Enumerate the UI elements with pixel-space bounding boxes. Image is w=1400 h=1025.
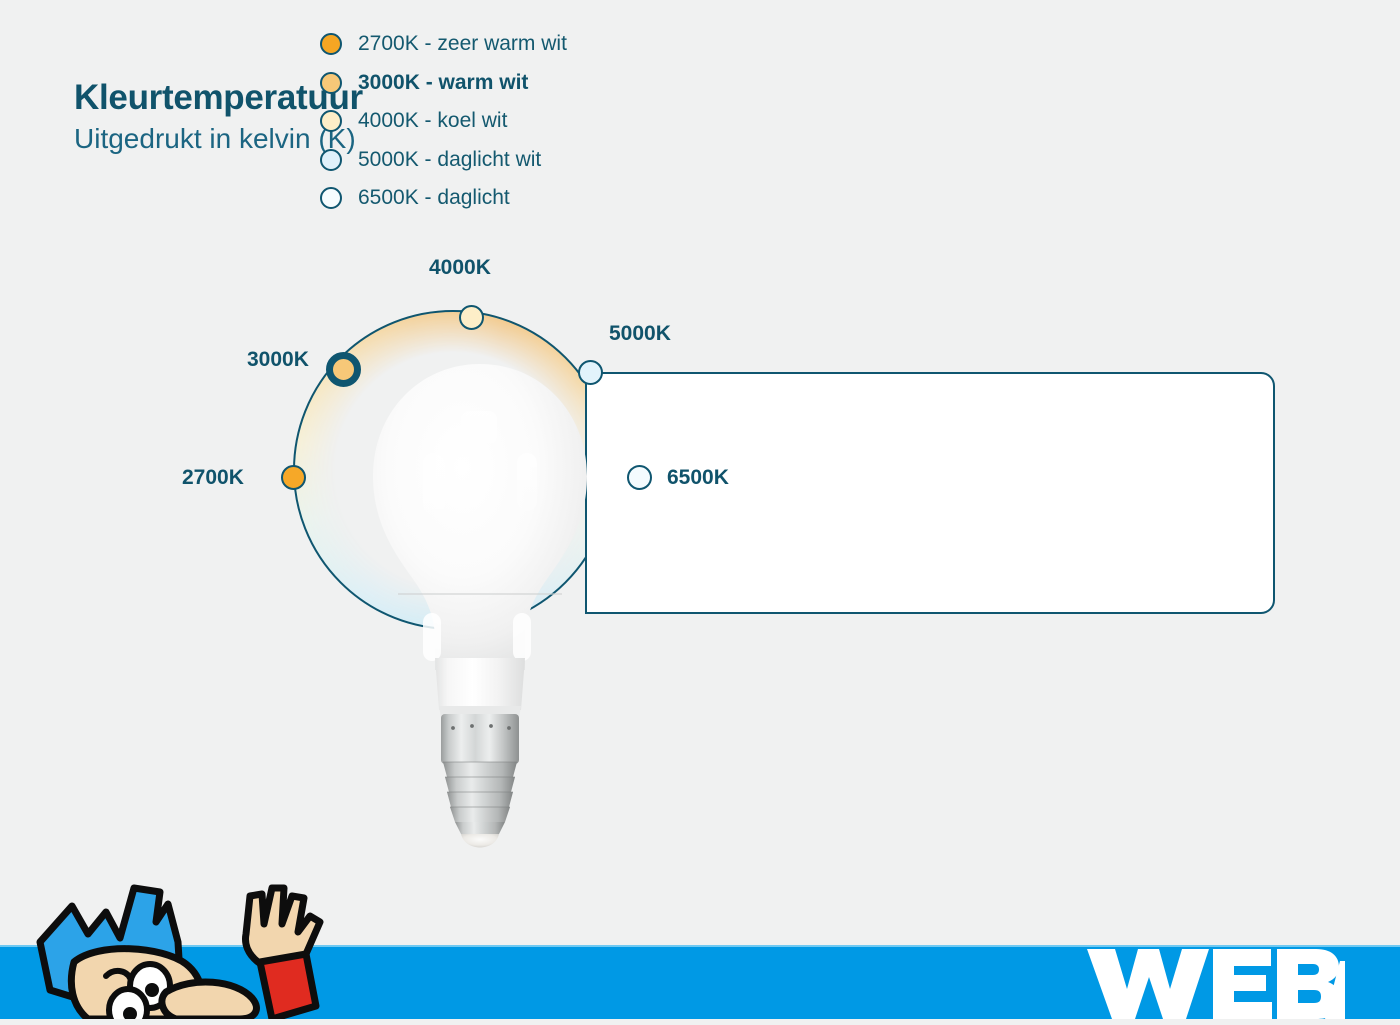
arc-label-5000k: 5000K (609, 322, 671, 346)
node-marker-2700k[interactable] (281, 465, 306, 490)
legend-item-2700k[interactable]: 2700K - zeer warm wit (320, 25, 567, 64)
legend-label-5000k: 5000K - daglicht wit (358, 148, 541, 172)
arc-label-3000k: 3000K (247, 348, 309, 372)
legend-label-4000k: 4000K - koel wit (358, 109, 507, 133)
mascot-character-icon (10, 880, 340, 1019)
node-marker-4000k[interactable] (459, 305, 484, 330)
legend-label-6500k: 6500K - daglicht (358, 186, 510, 210)
node-marker-3000k[interactable] (326, 352, 361, 387)
weba-logo-icon (1085, 939, 1345, 1025)
legend-dot-6500k (320, 187, 342, 209)
node-marker-6500k[interactable] (627, 465, 652, 490)
legend-dot-5000k (320, 149, 342, 171)
color-temperature-diagram: 2700K 3000K 4000K 5000K 6500K (0, 0, 1400, 945)
legend-item-3000k[interactable]: 3000K - warm wit (320, 64, 567, 103)
legend-label-2700k: 2700K - zeer warm wit (358, 32, 567, 56)
node-marker-5000k[interactable] (578, 360, 603, 385)
legend-item-5000k[interactable]: 5000K - daglicht wit (320, 141, 567, 180)
arc-label-4000k: 4000K (429, 256, 491, 280)
legend-panel (585, 372, 1275, 614)
legend-dot-3000k (320, 72, 342, 94)
legend-item-4000k[interactable]: 4000K - koel wit (320, 102, 567, 141)
arc-label-6500k: 6500K (667, 466, 729, 490)
legend-dot-2700k (320, 33, 342, 55)
legend-dot-4000k (320, 110, 342, 132)
arc-label-2700k: 2700K (182, 466, 244, 490)
legend-label-3000k: 3000K - warm wit (358, 71, 528, 95)
light-bulb-icon (365, 358, 595, 858)
legend-list: 2700K - zeer warm wit 3000K - warm wit 4… (320, 25, 567, 218)
legend-item-6500k[interactable]: 6500K - daglicht (320, 179, 567, 218)
